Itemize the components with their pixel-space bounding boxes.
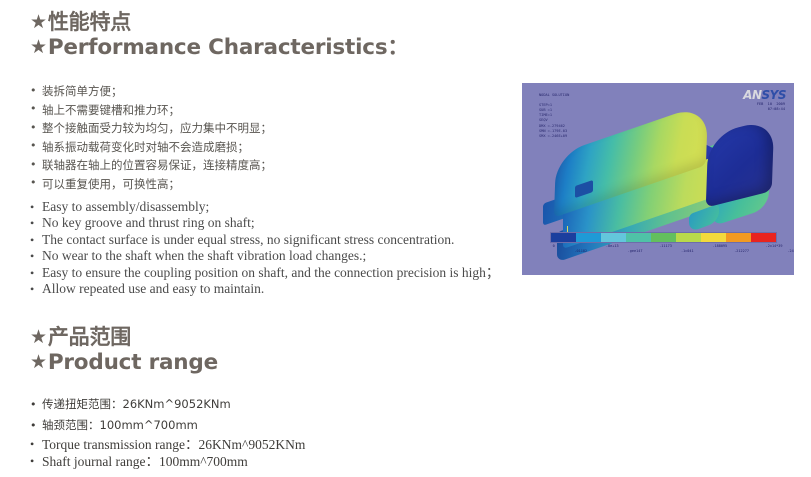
list-item: 可以重复使用，可换性高； (30, 175, 272, 194)
list-item: The contact surface is under equal stres… (30, 232, 499, 248)
legend-label: .1c041 (681, 249, 694, 253)
legend-swatch-8 (751, 233, 776, 242)
performance-bullets-en: Easy to assembly/disassembly; No key gro… (30, 199, 499, 297)
list-item: Torque transmission range：26KNm^9052KNm (30, 436, 305, 453)
performance-bullets-cn: 装拆简单方便； 轴上不需要键槽和推力环； 整个接触面受力较为均匀，应力集中不明显… (30, 82, 272, 193)
product-range-heading-en-text: Product range (48, 350, 218, 375)
performance-heading-cn-text: 性能特点 (48, 10, 131, 34)
slide-page: ★性能特点 ★Performance Characteristics： 装拆简单… (0, 0, 811, 477)
ansys-logo: ANSYS (743, 89, 786, 101)
product-range-heading-cn-text: 产品范围 (48, 325, 131, 349)
product-range-heading-cn: ★产品范围 (30, 325, 218, 350)
list-item: No key groove and thrust ring on shaft; (30, 215, 499, 231)
product-range-bullets-en: Torque transmission range：26KNm^9052KNm … (30, 436, 305, 470)
fea-contour-legend-labels: 0.8e+13.11173.188095.2x14*39.01182.gee14… (543, 244, 785, 252)
legend-label: .188095 (712, 244, 727, 248)
list-item: 轴上不需要键槽和推力环； (30, 101, 272, 120)
legend-label: .01182 (574, 249, 587, 253)
legend-swatch-4 (651, 233, 676, 242)
legend-swatch-7 (726, 233, 751, 242)
fea-contour-legend (550, 232, 777, 243)
ansys-logo-part2: SYS (762, 88, 786, 102)
list-item: 联轴器在轴上的位置容易保证，连接精度高； (30, 156, 272, 175)
performance-heading-cn: ★性能特点 (30, 10, 409, 35)
legend-label: .gee147 (628, 249, 643, 253)
legend-label: 0 (553, 244, 555, 248)
star-icon: ★ (30, 36, 47, 58)
ansys-logo-part1: AN (743, 88, 761, 102)
legend-swatch-1 (576, 233, 601, 242)
legend-swatch-0 (551, 233, 576, 242)
legend-swatch-3 (626, 233, 651, 242)
product-range-heading-en: ★Product range (30, 350, 218, 375)
legend-label: .212277 (734, 249, 749, 253)
list-item: Easy to ensure the coupling position on … (30, 265, 499, 281)
star-icon: ★ (30, 11, 47, 33)
product-range-bullets-cn: 传递扭矩范围：26KNm^9052KNm 轴颈范围：100mm^700mm (30, 394, 231, 436)
list-item: 装拆简单方便； (30, 82, 272, 101)
fea-timestamp-info: FEB 10 2009 07:08:44 (757, 102, 785, 112)
legend-label: .246e+1 (787, 249, 794, 253)
fea-plot-frame: ANSYS NODAL SOLUTION STEP=1 SUB =1 TIME=… (527, 87, 791, 270)
legend-swatch-6 (701, 233, 726, 242)
performance-heading-block: ★性能特点 ★Performance Characteristics： (30, 10, 409, 60)
legend-label: .8e+13 (606, 244, 619, 248)
list-item: Shaft journal range：100mm^700mm (30, 453, 305, 470)
list-item: 轴系振动载荷变化时对轴不会造成磨损； (30, 138, 272, 157)
fea-solution-info: NODAL SOLUTION STEP=1 SUB =1 TIME=1 SEQV… (539, 93, 569, 139)
list-item: Easy to assembly/disassembly; (30, 199, 499, 215)
list-item: 轴颈范围：100mm^700mm (30, 415, 231, 436)
list-item: Allow repeated use and easy to maintain. (30, 281, 499, 297)
legend-label: .11173 (659, 244, 672, 248)
legend-swatch-2 (601, 233, 626, 242)
star-icon: ★ (30, 326, 47, 348)
list-item: 整个接触面受力较为均匀，应力集中不明显； (30, 119, 272, 138)
performance-heading-en: ★Performance Characteristics： (30, 35, 409, 60)
list-item: 传递扭矩范围：26KNm^9052KNm (30, 394, 231, 415)
legend-swatch-5 (676, 233, 701, 242)
performance-heading-en-text: Performance Characteristics： (48, 35, 409, 60)
fea-simulation-image: ANSYS NODAL SOLUTION STEP=1 SUB =1 TIME=… (522, 83, 794, 275)
product-range-heading-block: ★产品范围 ★Product range (30, 325, 218, 375)
list-item: No wear to the shaft when the shaft vibr… (30, 248, 499, 264)
star-icon: ★ (30, 351, 47, 373)
legend-label: .2x14*39 (766, 244, 783, 248)
